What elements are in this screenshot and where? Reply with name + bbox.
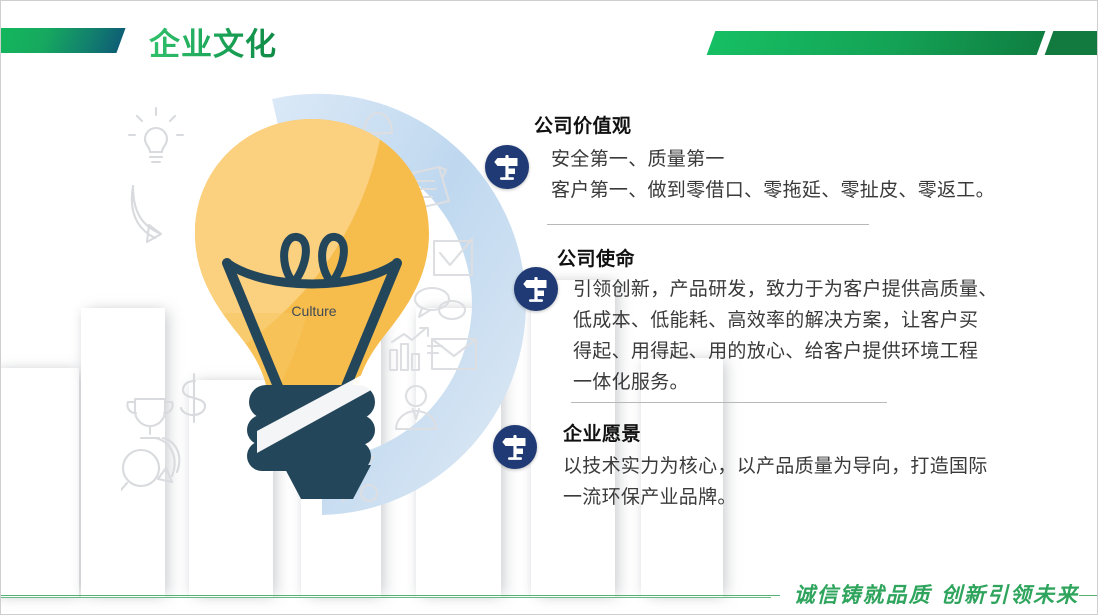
section-divider-2: [571, 402, 887, 403]
signpost-icon: [501, 433, 529, 461]
section-divider-1: [547, 224, 869, 225]
section-body-line: 得起、用得起、用的放心、给客户提供环境工程: [573, 336, 998, 367]
section-title-1: 公司价值观: [534, 111, 632, 138]
section-title-2: 公司使命: [557, 244, 635, 271]
section-badge-3[interactable]: [493, 425, 537, 469]
section-title-3: 企业愿景: [563, 419, 641, 446]
signpost-icon: [493, 153, 521, 181]
section-body-line: 低成本、低能耗、高效率的解决方案，让客户买: [573, 305, 998, 336]
section-body-line: 引领创新，产品研发，致力于为客户提供高质量、: [573, 274, 998, 305]
section-body-line: 一体化服务。: [573, 367, 998, 398]
section-body-line: 一流环保产业品牌。: [563, 482, 988, 513]
slide-canvas: 企业文化: [0, 0, 1098, 615]
section-body-3: 以技术实力为核心，以产品质量为导向，打造国际 一流环保产业品牌。: [563, 451, 988, 513]
section-body-2: 引领创新，产品研发，致力于为客户提供高质量、 低成本、低能耗、高效率的解决方案，…: [573, 274, 998, 398]
section-body-line: 安全第一、质量第一: [551, 144, 995, 175]
section-body-1: 安全第一、质量第一 客户第一、做到零借口、零拖延、零扯皮、零返工。: [551, 144, 995, 206]
content-column: 公司价值观 安全第一、质量第一 客户第一、做到零借口、零拖延、零扯皮、零返工。 …: [1, 1, 1098, 615]
section-body-line: 客户第一、做到零借口、零拖延、零扯皮、零返工。: [551, 175, 995, 206]
footer-slogan: 诚信铸就品质 创新引领未来: [780, 579, 1079, 609]
section-badge-2[interactable]: [514, 267, 558, 311]
section-body-line: 以技术实力为核心，以产品质量为导向，打造国际: [563, 451, 988, 482]
section-badge-1[interactable]: [485, 145, 529, 189]
signpost-icon: [522, 275, 550, 303]
